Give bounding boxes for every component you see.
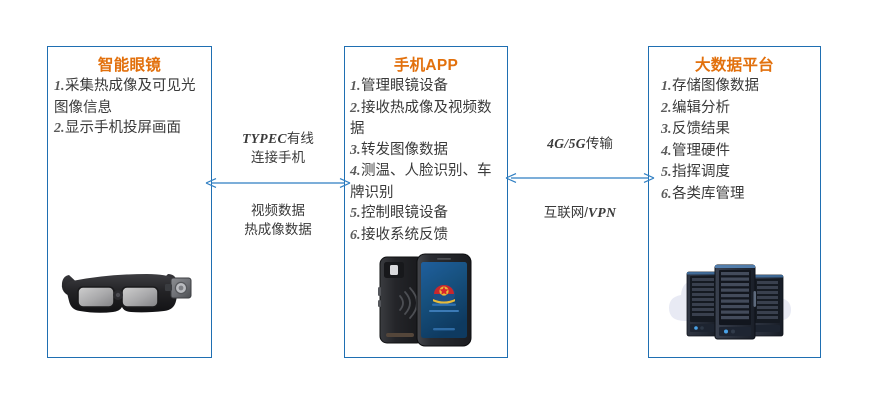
list-item-number: 2. bbox=[54, 121, 65, 136]
list-item-text: 接收系统反馈 bbox=[361, 227, 448, 243]
connector-label-bottom-line2: 热成像数据 bbox=[205, 221, 351, 240]
list-item-text: 接收热成像及视频数据 bbox=[350, 100, 492, 138]
list-item-number: 4. bbox=[350, 164, 361, 179]
smart-glasses-icon bbox=[48, 243, 213, 351]
artwork-smart-glasses bbox=[48, 243, 211, 351]
connector-label-latin: TYPEC bbox=[242, 131, 287, 146]
list-item: 2.编辑分析 bbox=[661, 98, 817, 120]
artwork-phone-app bbox=[345, 243, 507, 351]
rugged-phone-icon bbox=[345, 243, 509, 351]
list-item: 4.测温、人脸识别、车牌识别 bbox=[350, 161, 504, 203]
list-item: 2.接收热成像及视频数据 bbox=[350, 98, 504, 140]
node-title-phone-app: 手机APP bbox=[345, 56, 507, 75]
node-title-smart-glasses: 智能眼镜 bbox=[48, 56, 211, 75]
node-smart-glasses: 智能眼镜 1.采集热成像及可见光图像信息 2.显示手机投屏画面 bbox=[47, 46, 212, 358]
list-item: 5.控制眼镜设备 bbox=[350, 203, 504, 225]
connector-label-bottom-line1: 互联网/VPN bbox=[505, 204, 655, 223]
list-item-text: 管理硬件 bbox=[672, 143, 730, 159]
list-item-text: 显示手机投屏画面 bbox=[65, 120, 181, 136]
list-item-text: 指挥调度 bbox=[672, 164, 730, 180]
list-item: 5.指挥调度 bbox=[661, 162, 817, 184]
artwork-big-data-platform bbox=[649, 243, 820, 351]
connector-label-top-line1: 4G/5G传输 bbox=[505, 135, 655, 154]
connector-label-cjk: 传输 bbox=[586, 136, 613, 151]
connector-phone-to-platform: 4G/5G传输 互联网/VPN bbox=[505, 132, 655, 244]
list-item-number: 5. bbox=[350, 206, 361, 221]
list-item-text: 反馈结果 bbox=[672, 121, 730, 137]
node-list-big-data-platform: 1.存储图像数据 2.编辑分析 3.反馈结果 4.管理硬件 5.指挥调度 6.各… bbox=[649, 76, 820, 205]
list-item-text: 管理眼镜设备 bbox=[361, 78, 448, 94]
list-item-text: 采集热成像及可见光图像信息 bbox=[54, 78, 196, 116]
list-item: 2.显示手机投屏画面 bbox=[54, 118, 208, 140]
list-item-number: 5. bbox=[661, 165, 672, 180]
list-item: 6.各类库管理 bbox=[661, 184, 817, 206]
node-title-big-data-platform: 大数据平台 bbox=[649, 56, 820, 75]
list-item-number: 2. bbox=[661, 101, 672, 116]
list-item-text: 编辑分析 bbox=[672, 100, 730, 116]
list-item-number: 1. bbox=[54, 79, 65, 94]
bidirectional-arrow-icon bbox=[505, 171, 655, 185]
list-item-text: 测温、人脸识别、车牌识别 bbox=[350, 163, 492, 201]
connector-label-top-line2: 连接手机 bbox=[205, 149, 351, 168]
connector-label-bottom-line1: 视频数据 bbox=[205, 202, 351, 221]
list-item: 3.转发图像数据 bbox=[350, 140, 504, 162]
connector-label-top: TYPEC有线 连接手机 bbox=[205, 130, 351, 167]
bidirectional-arrow-icon bbox=[205, 176, 351, 190]
connector-label-top: 4G/5G传输 bbox=[505, 135, 655, 154]
connector-label-latin: 4G/5G bbox=[547, 136, 586, 151]
list-item-text: 转发图像数据 bbox=[361, 142, 448, 158]
connector-label-bottom: 视频数据 热成像数据 bbox=[205, 202, 351, 239]
connector-label-top-line1: TYPEC有线 bbox=[205, 130, 351, 149]
node-big-data-platform: 大数据平台 1.存储图像数据 2.编辑分析 3.反馈结果 4.管理硬件 5.指挥… bbox=[648, 46, 821, 358]
connector-label-bottom: 互联网/VPN bbox=[505, 204, 655, 223]
server-cloud-icon bbox=[649, 243, 822, 351]
connector-glasses-to-phone: TYPEC有线 连接手机 视频数据 热成像数据 bbox=[205, 128, 351, 256]
list-item: 4.管理硬件 bbox=[661, 141, 817, 163]
list-item-text: 控制眼镜设备 bbox=[361, 205, 448, 221]
list-item-number: 3. bbox=[350, 143, 361, 158]
list-item-number: 4. bbox=[661, 144, 672, 159]
node-list-phone-app: 1.管理眼镜设备 2.接收热成像及视频数据 3.转发图像数据 4.测温、人脸识别… bbox=[345, 76, 507, 246]
list-item: 1.存储图像数据 bbox=[661, 76, 817, 98]
list-item-number: 1. bbox=[350, 79, 361, 94]
connector-label-latin: VPN bbox=[588, 205, 616, 220]
diagram-canvas: 智能眼镜 1.采集热成像及可见光图像信息 2.显示手机投屏画面 bbox=[0, 0, 875, 402]
node-list-smart-glasses: 1.采集热成像及可见光图像信息 2.显示手机投屏画面 bbox=[48, 76, 211, 140]
list-item-number: 6. bbox=[350, 228, 361, 243]
list-item-number: 6. bbox=[661, 187, 672, 202]
connector-label-cjk: 互联网/ bbox=[544, 205, 588, 220]
list-item-text: 各类库管理 bbox=[672, 186, 745, 202]
node-phone-app: 手机APP 1.管理眼镜设备 2.接收热成像及视频数据 3.转发图像数据 4.测… bbox=[344, 46, 508, 358]
list-item: 1.采集热成像及可见光图像信息 bbox=[54, 76, 208, 118]
list-item: 1.管理眼镜设备 bbox=[350, 76, 504, 98]
list-item-number: 2. bbox=[350, 101, 361, 116]
list-item: 3.反馈结果 bbox=[661, 119, 817, 141]
list-item-number: 1. bbox=[661, 79, 672, 94]
connector-label-cjk: 有线 bbox=[287, 131, 314, 146]
list-item-number: 3. bbox=[661, 122, 672, 137]
list-item-text: 存储图像数据 bbox=[672, 78, 759, 94]
